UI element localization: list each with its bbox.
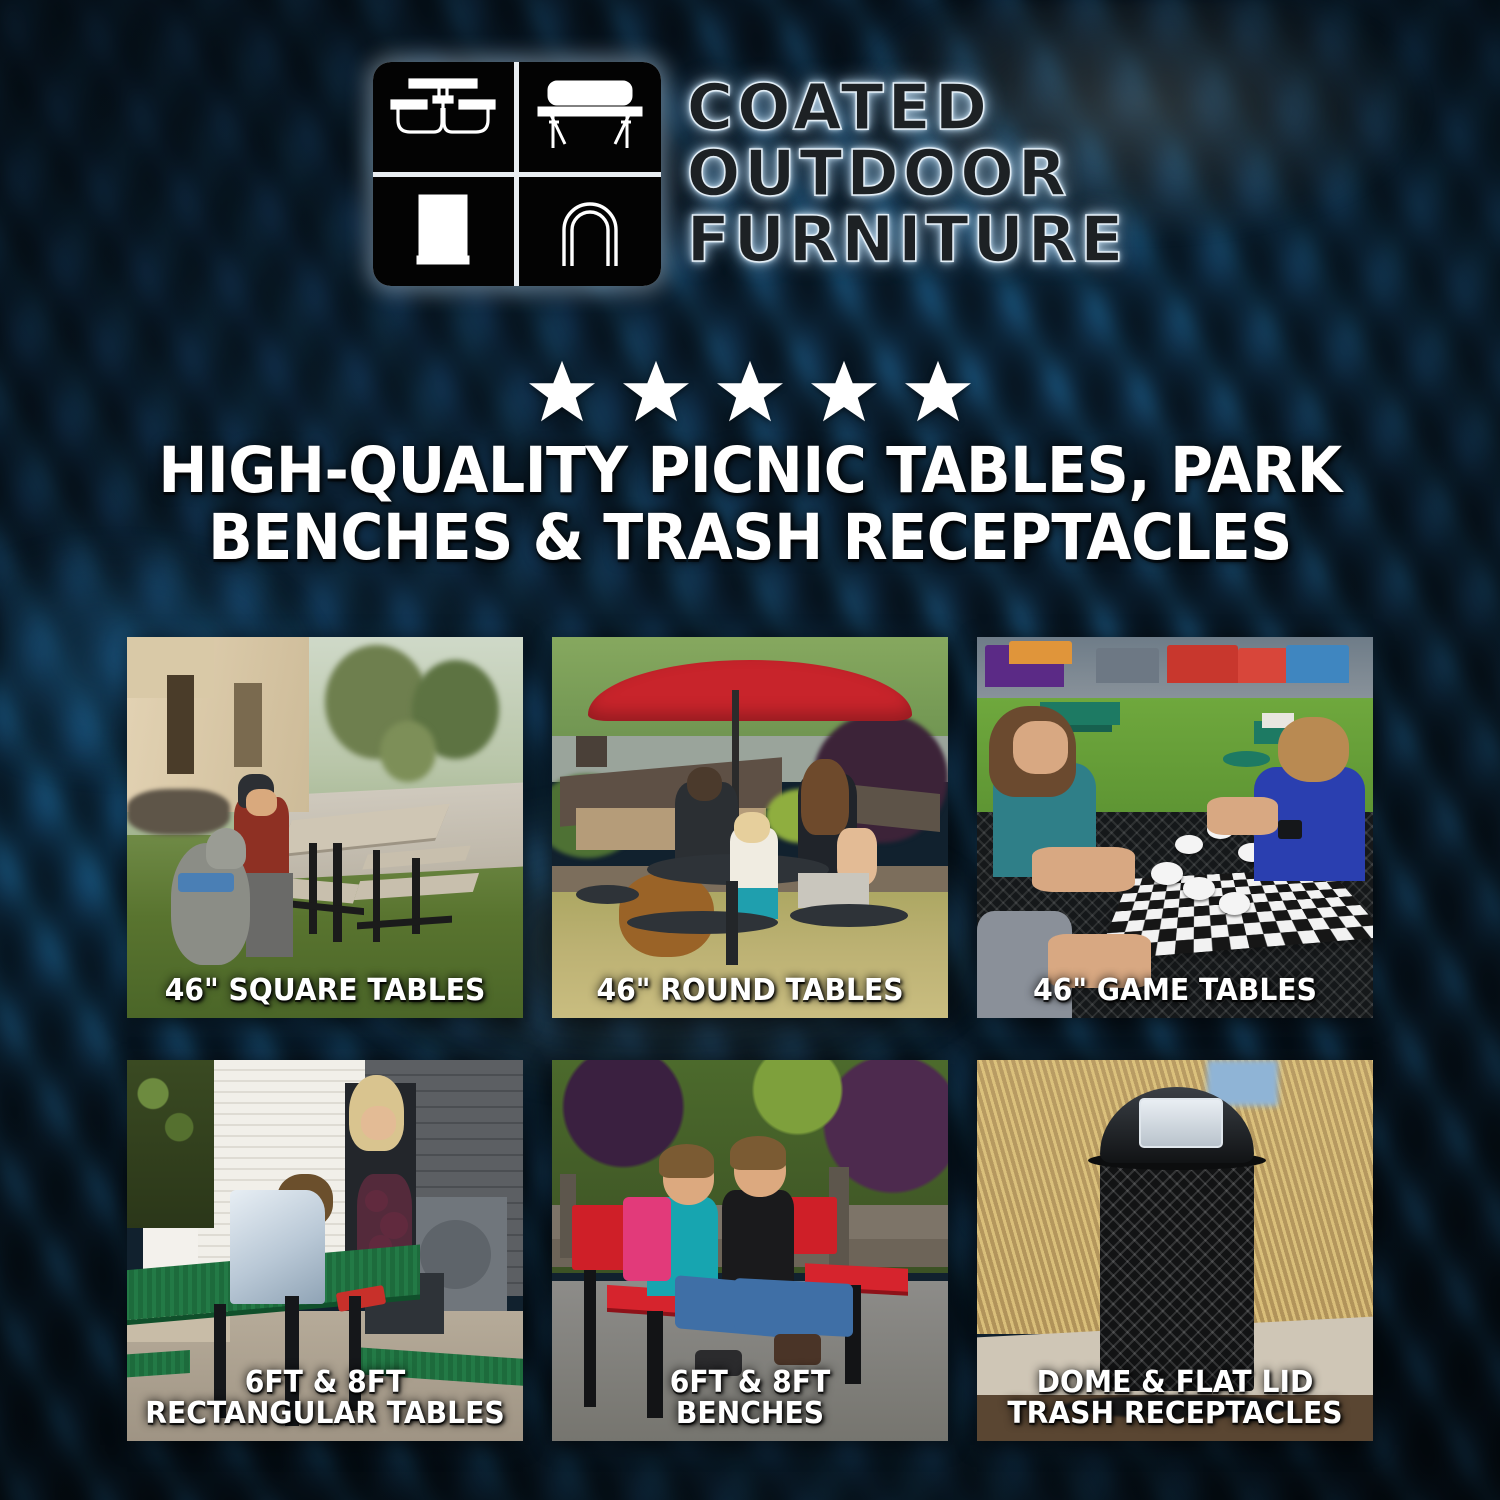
product-tile-round-tables[interactable]: 46" ROUND TABLES [552, 637, 948, 1018]
caption-line: 46" ROUND TABLES [570, 975, 931, 1006]
headline: HIGH-QUALITY PICNIC TABLES, PARK BENCHES… [108, 438, 1391, 572]
logo-line-3: FURNITURE [687, 208, 1128, 272]
trash-receptacle-icon [373, 177, 515, 287]
bike-rack-icon [519, 177, 661, 287]
product-photo-game-tables [977, 637, 1373, 1018]
product-caption: 6FT & 8FT BENCHES [570, 1367, 931, 1429]
caption-line: BENCHES [570, 1398, 931, 1429]
product-grid: 46" SQUARE TABLES [127, 637, 1373, 1441]
caption-line: 6FT & 8FT [570, 1367, 931, 1398]
product-caption: 46" GAME TABLES [995, 975, 1356, 1006]
headline-line-2: BENCHES & TRASH RECEPTACLES [108, 505, 1391, 572]
product-tile-game-tables[interactable]: 46" GAME TABLES [977, 637, 1373, 1018]
star-icon [524, 356, 600, 428]
brand-logo: COATED OUTDOOR FURNITURE [0, 62, 1500, 286]
product-caption: 46" ROUND TABLES [570, 975, 931, 1006]
product-caption: 6FT & 8FT RECTANGULAR TABLES [145, 1367, 506, 1429]
logo-wordmark: COATED OUTDOOR FURNITURE [687, 76, 1128, 273]
park-bench-icon [519, 62, 661, 172]
caption-line: RECTANGULAR TABLES [145, 1398, 506, 1429]
product-caption: DOME & FLAT LID TRASH RECEPTACLES [995, 1367, 1356, 1429]
logo-line-1: COATED [687, 76, 1128, 140]
logo-mark-grid [373, 62, 661, 286]
picnic-table-icon [373, 62, 515, 172]
caption-line: 46" SQUARE TABLES [145, 975, 506, 1006]
caption-line: DOME & FLAT LID [995, 1367, 1356, 1398]
headline-line-1: HIGH-QUALITY PICNIC TABLES, PARK [108, 438, 1391, 505]
product-tile-square-tables[interactable]: 46" SQUARE TABLES [127, 637, 523, 1018]
star-icon [618, 356, 694, 428]
caption-line: 6FT & 8FT [145, 1367, 506, 1398]
caption-line: TRASH RECEPTACLES [995, 1398, 1356, 1429]
caption-line: 46" GAME TABLES [995, 975, 1356, 1006]
product-tile-benches[interactable]: 6FT & 8FT BENCHES [552, 1060, 948, 1441]
product-photo-square-tables [127, 637, 523, 1018]
star-icon [806, 356, 882, 428]
star-icon [712, 356, 788, 428]
star-icon [900, 356, 976, 428]
logo-line-2: OUTDOOR [687, 142, 1128, 206]
promo-banner: COATED OUTDOOR FURNITURE HIGH-QUALITY PI… [0, 0, 1500, 1500]
product-tile-rectangular-tables[interactable]: 6FT & 8FT RECTANGULAR TABLES [127, 1060, 523, 1441]
product-photo-round-tables [552, 637, 948, 1018]
rating-stars [0, 356, 1500, 428]
product-tile-trash-receptacles[interactable]: DOME & FLAT LID TRASH RECEPTACLES [977, 1060, 1373, 1441]
product-caption: 46" SQUARE TABLES [145, 975, 506, 1006]
